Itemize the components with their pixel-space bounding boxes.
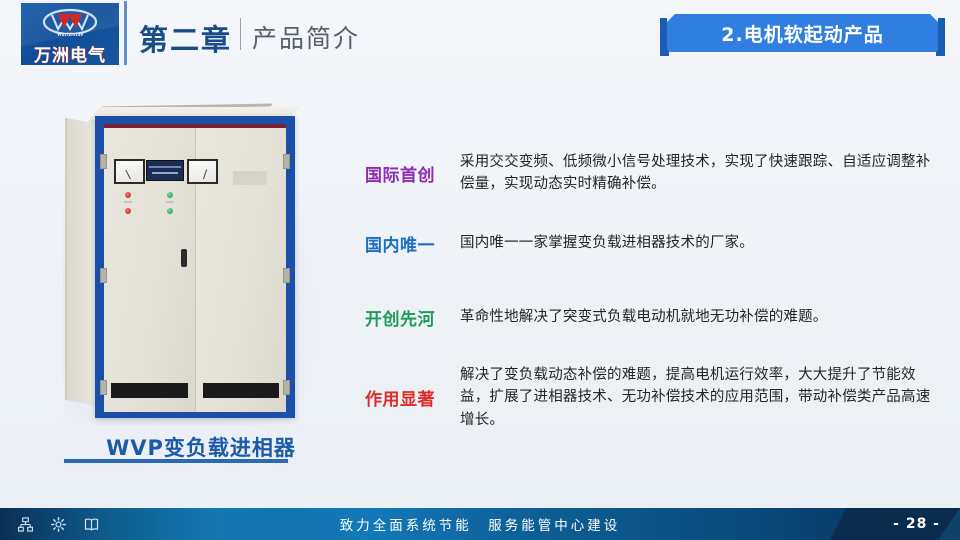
page-number: - 28 - [893, 508, 940, 540]
logo-company-name: 万洲电气 [21, 41, 119, 65]
feature-text: 革命性地解决了突变式负载电动机就地无功补偿的难题。 [460, 306, 935, 328]
hinge-left-bottom [100, 380, 107, 395]
feature-text: 解决了变负载动态补偿的难题，提高电机运行效率，大大提升了节能效益，扩展了进相器技… [460, 364, 935, 431]
hinge-left-top [100, 154, 107, 169]
digital-meter-row-1 [149, 166, 181, 168]
badge-notch-left [667, 14, 675, 22]
feature-item: 开创先河 革命性地解决了突变式负载电动机就地无功补偿的难题。 [365, 294, 935, 340]
cabinet-frame: WVP WAN ZHOU [95, 116, 295, 418]
feature-list: 国际首创 采用交交变频、低频微小信号处理技术，实现了快速跟踪、自适应调整补偿量，… [365, 150, 935, 445]
feature-item: 作用显著 解决了变负载动态补偿的难题，提高电机运行效率，大大提升了节能效益，扩展… [365, 364, 935, 431]
company-logo: Worldwide 万洲电气 [21, 3, 119, 65]
door-handle [181, 249, 187, 267]
meter-needle-right [203, 169, 207, 179]
feature-item: 国内唯一 国内唯一一家掌握变负载进相器技术的厂家。 [365, 220, 935, 266]
w-shield-icon [42, 8, 98, 34]
feature-text: 国内唯一一家掌握变负载进相器技术的厂家。 [460, 232, 935, 254]
analog-meter-right [187, 159, 218, 184]
chapter-subtitle: 产品简介 [252, 19, 360, 55]
footer-slogan: 致力全面系统节能 服务能管中心建设 [0, 508, 960, 540]
indicator-lamp-green-2 [167, 208, 173, 214]
hinge-right-bottom [283, 380, 290, 395]
indicator-lamp-green-1 [167, 192, 173, 198]
hinge-right-top [283, 154, 290, 169]
lamp-label-red-1 [124, 201, 132, 203]
analog-meter-left [114, 159, 145, 184]
footer-bar: 致力全面系统节能 服务能管中心建设 - 28 - [0, 508, 960, 540]
feature-label: 开创先河 [365, 305, 460, 330]
section-badge: 2.电机软起动产品 [660, 14, 945, 56]
product-caption: WVP变负载进相器 [55, 432, 347, 462]
slide: Worldwide 万洲电气 第二章 产品简介 2.电机软起动产品 WVP WA… [0, 0, 960, 540]
logo-latin-name: Worldwide [21, 33, 119, 38]
feature-label: 国内唯一 [365, 231, 460, 256]
product-caption-underline [64, 459, 288, 463]
hinge-right-mid [283, 268, 290, 283]
cabinet-brandmark [233, 171, 267, 185]
door-vent-right [203, 383, 280, 398]
indicator-lamp-red-2 [125, 208, 131, 214]
badge-body: 2.电机软起动产品 [667, 14, 938, 52]
badge-label: 2.电机软起动产品 [721, 20, 883, 47]
hinge-left-mid [100, 268, 107, 283]
header-divider [124, 1, 127, 65]
lamp-label-green-1 [166, 201, 174, 203]
chapter-separator [240, 18, 241, 50]
indicator-lamp-red-1 [125, 192, 131, 198]
meter-needle-left [125, 170, 131, 179]
product-photo: WVP WAN ZHOU [55, 95, 347, 435]
digital-meter-row-2 [152, 172, 178, 174]
feature-item: 国际首创 采用交交变频、低频微小信号处理技术，实现了快速跟踪、自适应调整补偿量，… [365, 150, 935, 196]
chapter-title: 第二章 [139, 17, 232, 59]
badge-notch-right [930, 14, 938, 22]
feature-text: 采用交交变频、低频微小信号处理技术，实现了快速跟踪、自适应调整补偿量，实现动态实… [460, 151, 935, 196]
digital-meter [146, 160, 184, 181]
feature-label: 国际首创 [365, 161, 460, 186]
feature-label: 作用显著 [365, 385, 460, 410]
door-vent-left [111, 383, 188, 398]
